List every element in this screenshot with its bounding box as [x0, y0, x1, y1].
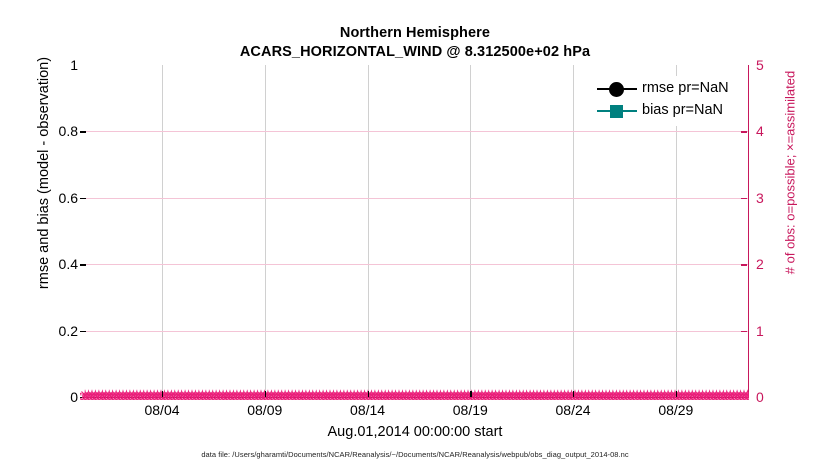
x-gridline [265, 65, 266, 397]
title-block: Northern Hemisphere ACARS_HORIZONTAL_WIN… [0, 24, 830, 62]
y-gridline [80, 264, 748, 265]
y-tick-mark-right [741, 131, 747, 133]
y-tick-mark-right [741, 264, 747, 266]
x-tick-mark [470, 391, 471, 397]
y-tick-mark-left [80, 264, 86, 266]
legend-item-bias: bias pr=NaN [589, 100, 747, 122]
x-tick-label: 08/09 [220, 402, 310, 418]
y-tick-mark-left [80, 198, 86, 200]
x-gridline [470, 65, 471, 397]
x-tick-label: 08/19 [425, 402, 515, 418]
y-tick-mark-left [80, 131, 86, 133]
x-gridline [368, 65, 369, 397]
chart-title: Northern Hemisphere [0, 24, 830, 43]
y-gridline [80, 131, 748, 132]
y-gridline [80, 331, 748, 332]
x-axis-label: Aug.01,2014 00:00:00 start [0, 424, 830, 440]
chart-figure: Northern Hemisphere ACARS_HORIZONTAL_WIN… [0, 0, 830, 470]
chart-legend: rmse pr=NaN bias pr=NaN [589, 76, 747, 126]
chart-subtitle: ACARS_HORIZONTAL_WIND @ 8.312500e+02 hPa [0, 43, 830, 62]
data-file-caption: data file: /Users/gharamti/Documents/NCA… [0, 450, 830, 459]
x-tick-mark [265, 391, 266, 397]
legend-item-rmse: rmse pr=NaN [589, 78, 747, 100]
y-axis-left-label: rmse and bias (model - observation) [36, 8, 52, 338]
x-gridline [573, 65, 574, 397]
x-tick-mark [573, 391, 574, 397]
x-tick-mark [676, 391, 677, 397]
x-tick-label: 08/04 [117, 402, 207, 418]
y-tick-label-left: 0 [38, 390, 78, 404]
y-tick-mark-right [741, 198, 747, 200]
y-axis-right-label: # of obs: o=possible; ×=assimilated [783, 8, 798, 338]
y-tick-mark-left [80, 331, 86, 333]
y-gridline [80, 198, 748, 199]
y-tick-mark-right [741, 331, 747, 333]
x-tick-mark [368, 391, 369, 397]
x-tick-label: 08/24 [528, 402, 618, 418]
circle-marker-icon [609, 82, 624, 97]
x-tick-label: 08/14 [323, 402, 413, 418]
y-tick-label-right: 0 [756, 390, 796, 404]
legend-label-bias: bias pr=NaN [642, 100, 723, 122]
legend-label-rmse: rmse pr=NaN [642, 78, 729, 100]
square-marker-icon [610, 105, 623, 118]
x-gridline [162, 65, 163, 397]
x-tick-label: 08/29 [631, 402, 721, 418]
x-tick-mark [162, 391, 163, 397]
